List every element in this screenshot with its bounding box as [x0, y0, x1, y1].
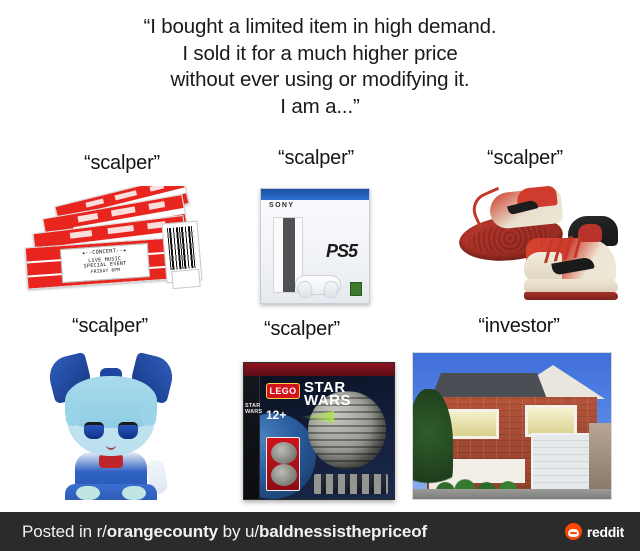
- banner-middle: by u/: [218, 522, 259, 541]
- image-concert-tickets: ★--CONCERT--★ LIVE MUSIC SPECIAL EVENT F…: [22, 186, 212, 306]
- ticket-front-text-block: ★--CONCERT--★ LIVE MUSIC SPECIAL EVENT F…: [60, 243, 150, 283]
- quote-line-2: I sold it for a much higher price: [0, 41, 640, 68]
- meme-header-quote: “I bought a limited item in high demand.…: [0, 14, 640, 120]
- plush-eye-left: [84, 422, 104, 439]
- panel-caption-plush: “scalper”: [40, 315, 180, 338]
- lego-age-rating: 12+: [266, 408, 286, 422]
- sneaker-right: [524, 216, 620, 300]
- lego-logo: LEGO: [266, 383, 300, 399]
- panel-caption-lego: “scalper”: [232, 318, 372, 341]
- lego-box-inset-photo: [266, 437, 300, 491]
- plush-bang-right: [141, 405, 157, 426]
- banner-attribution-text: Posted in r/orangecounty by u/baldnessis…: [22, 522, 427, 542]
- sony-logo: SONY: [269, 202, 294, 209]
- lego-minifigure-strip: [314, 474, 388, 494]
- star-wars-logo: STAR WARS: [304, 381, 394, 407]
- house-window-upper-left: [447, 409, 499, 439]
- ticket-stub-slip: [171, 269, 200, 289]
- lego-spine-label: STAR WARS: [245, 404, 259, 416]
- plush-foot-left: [76, 486, 100, 500]
- quote-line-1: “I bought a limited item in high demand.: [0, 14, 640, 41]
- lego-box-spine: STAR WARS: [244, 376, 260, 499]
- panel-caption-sneakers: “scalper”: [455, 147, 595, 170]
- reddit-logo-icon: [565, 523, 582, 540]
- neighbor-building: [589, 423, 611, 489]
- house-roof-left: [431, 373, 547, 399]
- plush-eye-right: [118, 422, 138, 439]
- panel-caption-house: “investor”: [444, 315, 594, 338]
- plush-foot-right: [122, 486, 146, 500]
- reddit-wordmark: reddit: [587, 524, 624, 540]
- banner-username[interactable]: baldnessisthepriceof: [259, 522, 427, 541]
- plush-red-ribbon: [99, 454, 123, 468]
- reddit-badge[interactable]: reddit: [565, 523, 624, 540]
- banner-prefix: Posted in r/: [22, 522, 107, 541]
- panel-caption-ps5: “scalper”: [246, 147, 386, 170]
- ps5-product-logo: PS5: [326, 241, 357, 262]
- age-rating-badge: [350, 282, 362, 296]
- lego-box-top-edge: [244, 363, 394, 376]
- image-suburban-house: [412, 352, 612, 500]
- panel-caption-tickets: “scalper”: [52, 152, 192, 175]
- image-air-jordan-sneakers: [440, 176, 626, 306]
- image-ps5-box: SONY PS5: [260, 188, 370, 304]
- quote-line-4: I am a...”: [0, 94, 640, 121]
- house-garage-door: [531, 433, 595, 491]
- house-driveway: [413, 489, 611, 499]
- banner-subreddit[interactable]: orangecounty: [107, 522, 218, 541]
- image-lego-star-wars-box: STAR WARS LEGO STAR WARS 12+: [243, 362, 395, 500]
- reddit-attribution-banner: Posted in r/orangecounty by u/baldnessis…: [0, 512, 640, 551]
- quote-line-3: without ever using or modifying it.: [0, 67, 640, 94]
- image-cirno-plush: [50, 348, 172, 500]
- sneaker-right-tongue: [578, 224, 602, 242]
- sneaker-right-outsole: [524, 292, 618, 300]
- dualsense-controller-illustration: [295, 275, 341, 295]
- ps5-box-top-band: [261, 189, 369, 200]
